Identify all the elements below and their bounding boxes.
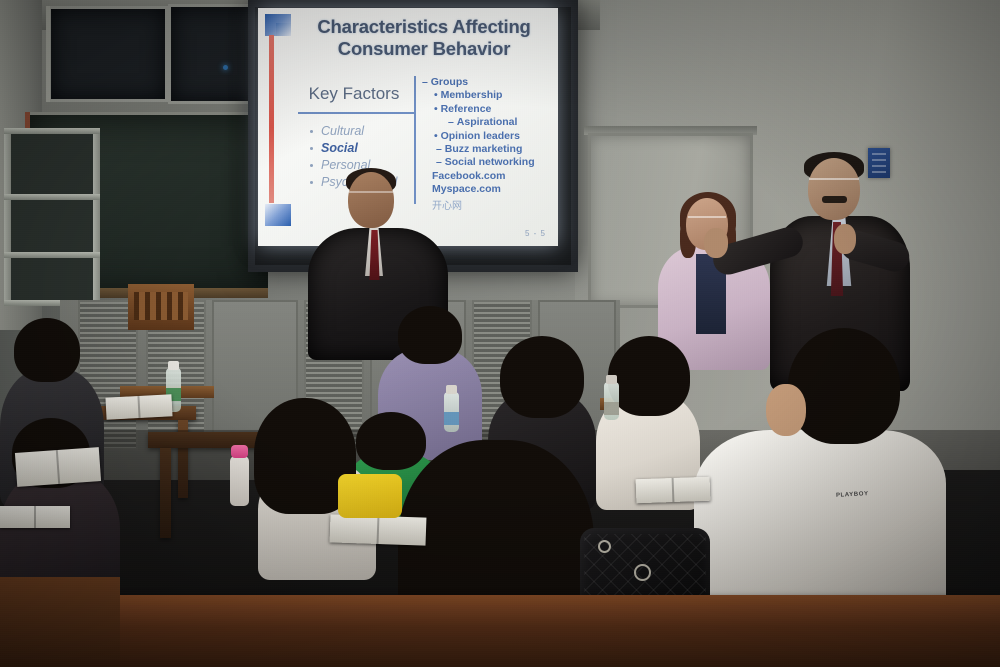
notebook-left [0,506,70,528]
open-book-back-left [105,394,172,419]
student-purple-head [398,306,462,364]
key-factor-social: Social [310,140,410,157]
handbag-ring-icon [634,564,651,581]
presenter-3-moustache [822,196,847,203]
presenter-3-head [808,158,860,220]
glasses-icon [809,178,859,189]
slide-number: 5 - 5 [525,229,546,238]
wooden-chair [128,284,194,330]
presenter-3-left-hand [704,228,728,258]
glasses-icon [688,216,726,225]
student-back-center-head [500,336,584,418]
slide-title-line-2: Consumer Behavior [298,38,550,60]
window-reflection [223,65,228,70]
open-book-right [636,477,711,504]
slide-title-line-1: Characteristics Affecting [298,16,550,38]
pink-cap-bottle [230,456,249,506]
student-back-left-head [14,318,80,382]
groups-item-aspirational: Aspirational [422,116,554,129]
yellow-bag [338,474,402,518]
water-bottle-right [604,382,619,420]
pink-bottle-cap [231,445,248,458]
key-factor-cultural: Cultural [310,123,410,140]
student-playboy-head [788,328,900,444]
open-book-center [330,514,427,545]
slide-title: Characteristics Affecting Consumer Behav… [298,16,550,60]
storage-rack [4,128,100,306]
slide-logo-top [265,14,291,36]
window-left [48,6,168,102]
presenter-3-right-hand [834,224,856,254]
water-bottle-center [444,392,459,432]
student-playboy-hand [766,384,806,436]
open-book-left [15,447,101,487]
front-bench [0,605,1000,667]
groups-item-groups: Groups [422,76,554,89]
presenter-woman [658,192,770,367]
groups-item-buzz-marketing: Buzz marketing [422,143,554,156]
student-green-head [356,412,426,470]
groups-item-reference: Reference [422,103,554,116]
classroom-photograph: Characteristics Affecting Consumer Behav… [0,0,1000,667]
glasses-icon [349,191,393,201]
student-back-right-head [608,336,690,416]
groups-item-membership: Membership [422,89,554,102]
window-mullion [46,6,50,102]
handbag-clasp-icon [598,540,611,553]
groups-item-opinion-leaders: Opinion leaders [422,130,554,143]
front-bench-left [0,577,120,667]
key-factors-heading: Key Factors [298,84,410,107]
